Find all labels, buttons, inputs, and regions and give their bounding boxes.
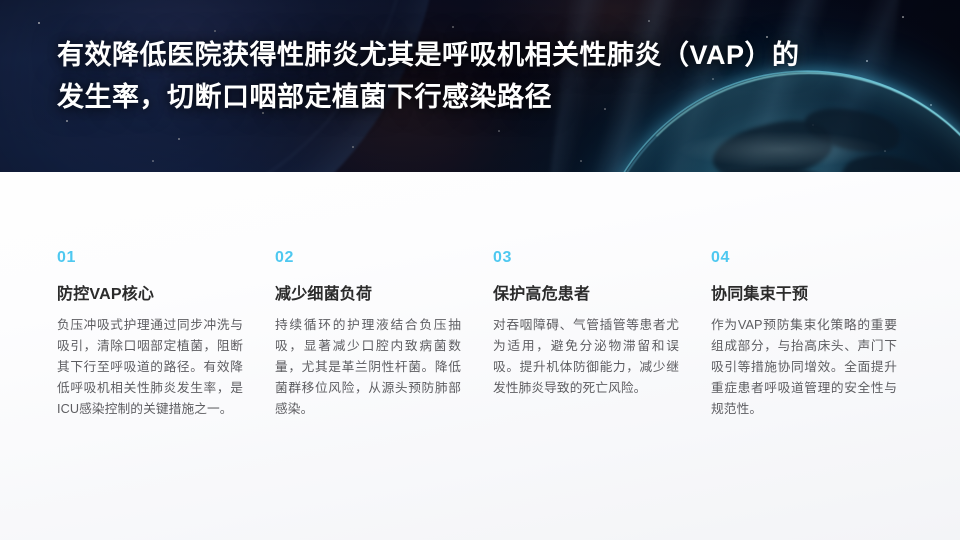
column-body-4: 作为VAP预防集束化策略的重要组成部分，与抬高床头、声门下吸引等措施协同增效。全… (711, 315, 897, 420)
hero-banner: 有效降低医院获得性肺炎尤其是呼吸机相关性肺炎（VAP）的 发生率，切断口咽部定植… (0, 0, 960, 172)
page-title-line-1: 有效降低医院获得性肺炎尤其是呼吸机相关性肺炎（VAP）的 (57, 34, 887, 76)
column-body-1: 负压冲吸式护理通过同步冲洗与吸引，清除口咽部定植菌，阻断其下行至呼吸道的路径。有… (57, 315, 243, 420)
content-column-4: 04 协同集束干预 作为VAP预防集束化策略的重要组成部分，与抬高床头、声门下吸… (711, 248, 897, 420)
column-number-3: 03 (493, 248, 679, 268)
page-title-line-2: 发生率，切断口咽部定植菌下行感染路径 (57, 76, 887, 118)
column-heading-2: 减少细菌负荷 (275, 284, 461, 306)
column-heading-3: 保护高危患者 (493, 284, 679, 306)
column-heading-1: 防控VAP核心 (57, 284, 243, 306)
column-number-1: 01 (57, 248, 243, 268)
column-body-3: 对吞咽障碍、气管插管等患者尤为适用，避免分泌物滞留和误吸。提升机体防御能力，减少… (493, 315, 679, 399)
content-column-3: 03 保护高危患者 对吞咽障碍、气管插管等患者尤为适用，避免分泌物滞留和误吸。提… (493, 248, 679, 420)
column-number-4: 04 (711, 248, 897, 268)
content-column-1: 01 防控VAP核心 负压冲吸式护理通过同步冲洗与吸引，清除口咽部定植菌，阻断其… (57, 248, 243, 420)
content-columns: 01 防控VAP核心 负压冲吸式护理通过同步冲洗与吸引，清除口咽部定植菌，阻断其… (57, 248, 903, 420)
column-body-2: 持续循环的护理液结合负压抽吸，显著减少口腔内致病菌数量，尤其是革兰阴性杆菌。降低… (275, 315, 461, 420)
column-heading-4: 协同集束干预 (711, 284, 897, 306)
page-title: 有效降低医院获得性肺炎尤其是呼吸机相关性肺炎（VAP）的 发生率，切断口咽部定植… (57, 34, 887, 118)
column-number-2: 02 (275, 248, 461, 268)
content-column-2: 02 减少细菌负荷 持续循环的护理液结合负压抽吸，显著减少口腔内致病菌数量，尤其… (275, 248, 461, 420)
slide-root: 有效降低医院获得性肺炎尤其是呼吸机相关性肺炎（VAP）的 发生率，切断口咽部定植… (0, 0, 960, 540)
